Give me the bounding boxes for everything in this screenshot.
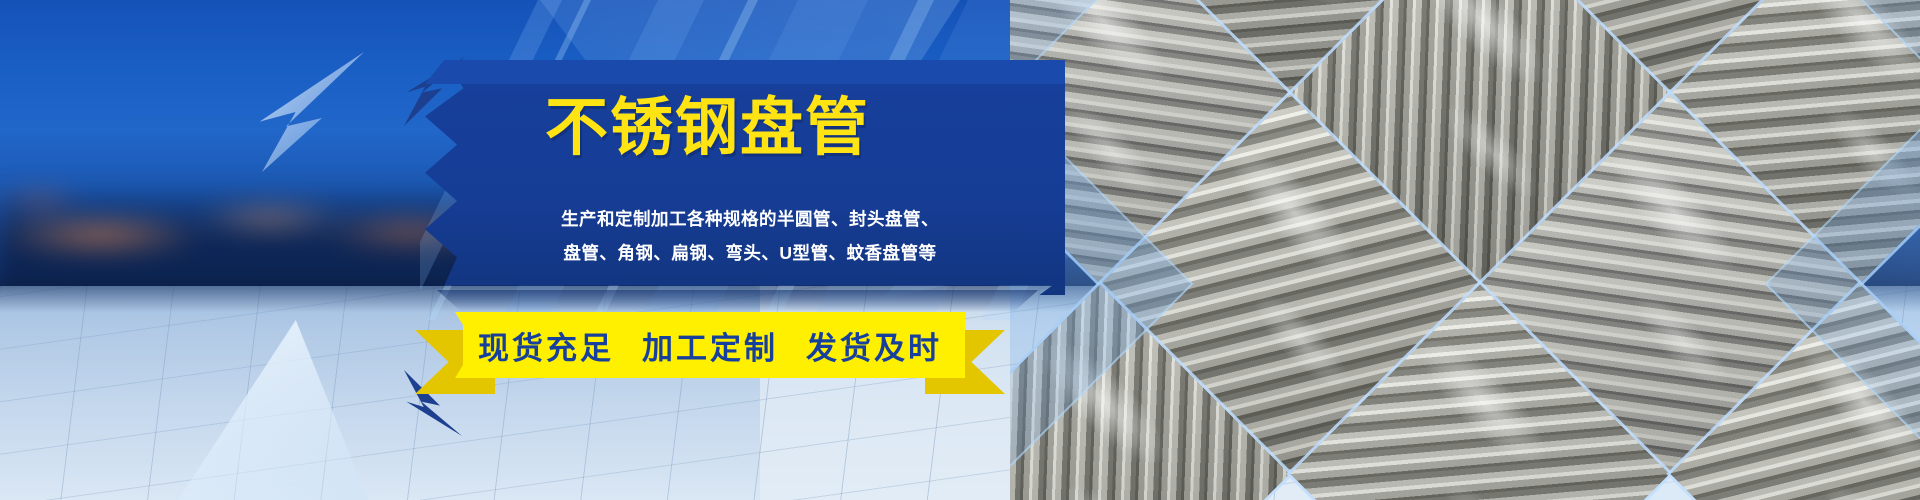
product-photo-collage (1010, 0, 1920, 500)
ribbon-item-stock: 现货充足 (478, 323, 614, 368)
panel-drop-shadow (437, 290, 1057, 312)
product-banner: 不锈钢盘管 生产和定制加工各种规格的半圆管、封头盘管、 盘管、角钢、扁钢、弯头、… (0, 0, 1920, 500)
subtitle-block: 生产和定制加工各种规格的半圆管、封头盘管、 盘管、角钢、扁钢、弯头、U型管、蚊香… (470, 202, 1030, 270)
subtitle-line-2: 盘管、角钢、扁钢、弯头、U型管、蚊香盘管等 (470, 236, 1030, 270)
ribbon-text-group: 现货充足 加工定制 发货及时 (463, 312, 957, 378)
subtitle-line-1: 生产和定制加工各种规格的半圆管、封头盘管、 (470, 202, 1030, 236)
ribbon-item-shipping: 发货及时 (806, 323, 942, 368)
page-title: 不锈钢盘管 (545, 97, 985, 160)
ribbon-item-custom: 加工定制 (642, 323, 778, 368)
headline-panel-top-bar (425, 60, 1065, 84)
feature-ribbon: 现货充足 加工定制 发货及时 (415, 312, 1005, 394)
